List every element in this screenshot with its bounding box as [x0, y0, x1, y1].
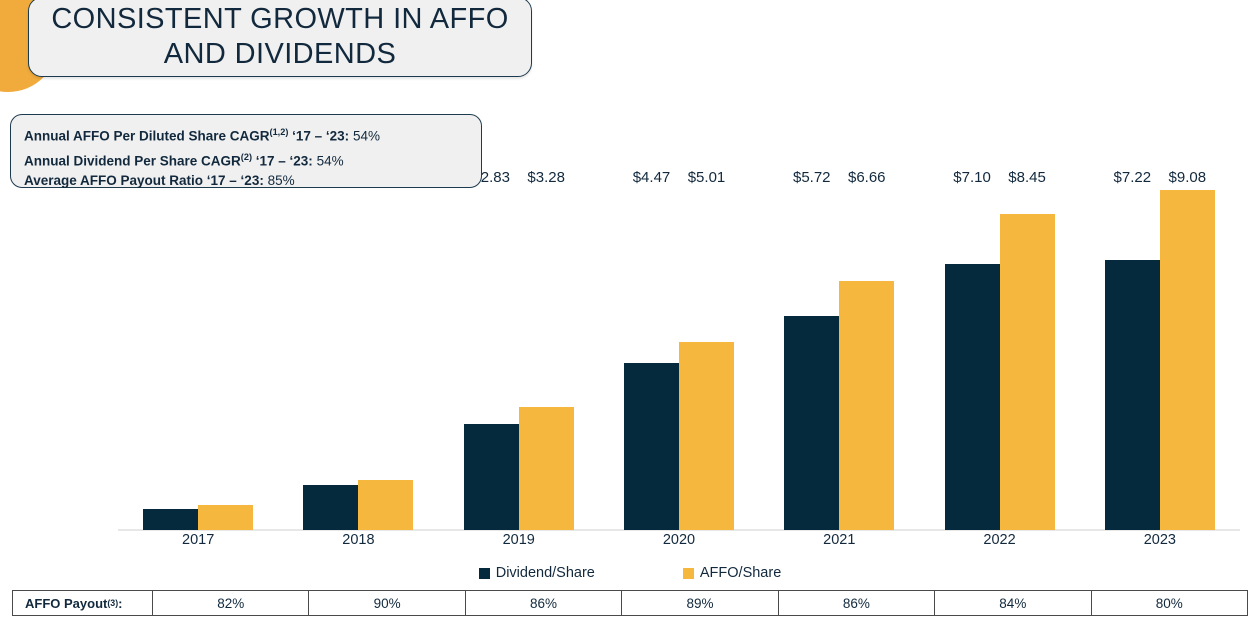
affo-bar-wrap: $8.45 [1000, 190, 1055, 530]
legend-item: AFFO/Share [683, 565, 781, 581]
cagr-dividend-label: Annual Dividend Per Share CAGR [24, 153, 241, 168]
payout-row-header-footnote: (3) [107, 598, 118, 608]
bar-value-label: $6.66 [848, 169, 886, 186]
cagr-payout-label: Average AFFO Payout Ratio ‘17 – ‘23: [24, 173, 264, 188]
bar-value-label: $7.10 [953, 169, 991, 186]
affo-bar-wrap: $6.66 [839, 190, 894, 530]
cagr-affo-label: Annual AFFO Per Diluted Share CAGR [24, 129, 270, 144]
payout-table: AFFO Payout(3): 82%90%86%89%86%84%80% [12, 590, 1248, 616]
affo-bar-wrap: $0.67 [198, 190, 253, 530]
x-axis-tick-label: 2021 [759, 532, 919, 548]
bar-value-label: $7.22 [1114, 169, 1152, 186]
dividend-bar: $5.72 [784, 316, 839, 530]
plot-area: $0.55$0.672017$1.20$1.342018$2.83$3.2820… [118, 190, 1240, 530]
payout-cell: 86% [779, 591, 935, 615]
dividend-bar: $2.83 [464, 424, 519, 530]
affo-bar: $5.01 [679, 342, 734, 530]
bar-value-label: $5.01 [688, 169, 726, 186]
bar-value-label: $4.47 [633, 169, 671, 186]
payout-row-header-suffix: : [118, 596, 122, 611]
affo-bar-wrap: $3.28 [519, 190, 574, 530]
payout-cell: 86% [466, 591, 622, 615]
payout-cell: 90% [309, 591, 465, 615]
legend-swatch-icon [683, 568, 694, 579]
dividend-bar-wrap: $0.55 [143, 190, 198, 530]
bar-group: $7.22$9.082023 [1080, 190, 1240, 530]
cagr-dividend-period: ‘17 – ‘23: [252, 153, 313, 168]
cagr-line-affo: Annual AFFO Per Diluted Share CAGR(1,2) … [24, 122, 481, 147]
dividend-bar: $1.20 [303, 485, 358, 530]
cagr-affo-period: ‘17 – ‘23: [288, 129, 349, 144]
title-card: CONSISTENT GROWTH IN AFFO AND DIVIDENDS [28, 0, 532, 77]
legend-swatch-icon [479, 568, 490, 579]
affo-bar-wrap: $5.01 [679, 190, 734, 530]
affo-bar: $9.08 [1160, 190, 1215, 530]
x-axis-tick-label: 2019 [439, 532, 599, 548]
payout-cell: 84% [935, 591, 1091, 615]
affo-bar: $8.45 [1000, 214, 1055, 530]
bar-chart: $0.55$0.672017$1.20$1.342018$2.83$3.2820… [0, 190, 1260, 542]
x-axis-tick-label: 2020 [599, 532, 759, 548]
legend-item: Dividend/Share [479, 565, 595, 581]
payout-row-header-text: AFFO Payout [25, 596, 107, 611]
dividend-bar: $7.10 [945, 264, 1000, 530]
payout-cell: 89% [622, 591, 778, 615]
x-axis-tick-label: 2023 [1080, 532, 1240, 548]
x-axis-tick-label: 2022 [919, 532, 1079, 548]
chart-legend: Dividend/ShareAFFO/Share [0, 565, 1260, 581]
x-axis-tick-label: 2018 [278, 532, 438, 548]
payout-row-header: AFFO Payout(3): [13, 591, 153, 615]
bar-group: $7.10$8.452022 [919, 190, 1079, 530]
bar-value-label: $8.45 [1008, 169, 1046, 186]
bar-group: $0.55$0.672017 [118, 190, 278, 530]
bar-group: $2.83$3.282019 [439, 190, 599, 530]
affo-bar: $6.66 [839, 281, 894, 530]
cagr-annotation-box: Annual AFFO Per Diluted Share CAGR(1,2) … [10, 114, 482, 188]
cagr-dividend-value: 54% [313, 153, 344, 168]
affo-bar: $3.28 [519, 407, 574, 530]
dividend-bar: $7.22 [1105, 260, 1160, 530]
bar-group: $4.47$5.012020 [599, 190, 759, 530]
affo-bar-wrap: $9.08 [1160, 190, 1215, 530]
dividend-bar-wrap: $5.72 [784, 190, 839, 530]
dividend-bar-wrap: $7.10 [945, 190, 1000, 530]
affo-bar: $0.67 [198, 505, 253, 530]
bar-value-label: $5.72 [793, 169, 831, 186]
bar-value-label: $9.08 [1169, 169, 1207, 186]
payout-cell: 80% [1092, 591, 1247, 615]
dividend-bar-wrap: $7.22 [1105, 190, 1160, 530]
dividend-bar: $0.55 [143, 509, 198, 530]
bar-value-label: $3.28 [527, 169, 565, 186]
dividend-bar: $4.47 [624, 363, 679, 530]
legend-label: AFFO/Share [700, 565, 781, 581]
x-axis-tick-label: 2017 [118, 532, 278, 548]
dividend-bar-wrap: $1.20 [303, 190, 358, 530]
affo-bar: $1.34 [358, 480, 413, 530]
cagr-affo-value: 54% [349, 129, 380, 144]
dividend-bar-wrap: $4.47 [624, 190, 679, 530]
cagr-affo-footnote: (1,2) [270, 127, 289, 137]
bar-group: $1.20$1.342018 [278, 190, 438, 530]
bar-group: $5.72$6.662021 [759, 190, 919, 530]
legend-label: Dividend/Share [496, 565, 595, 581]
page-title: CONSISTENT GROWTH IN AFFO AND DIVIDENDS [35, 2, 524, 73]
cagr-line-payout: Average AFFO Payout Ratio ‘17 – ‘23: 85% [24, 171, 481, 191]
dividend-bar-wrap: $2.83 [464, 190, 519, 530]
cagr-payout-value: 85% [264, 173, 295, 188]
affo-bar-wrap: $1.34 [358, 190, 413, 530]
cagr-line-dividend: Annual Dividend Per Share CAGR(2) ‘17 – … [24, 147, 481, 172]
payout-cell: 82% [153, 591, 309, 615]
cagr-dividend-footnote: (2) [241, 152, 252, 162]
